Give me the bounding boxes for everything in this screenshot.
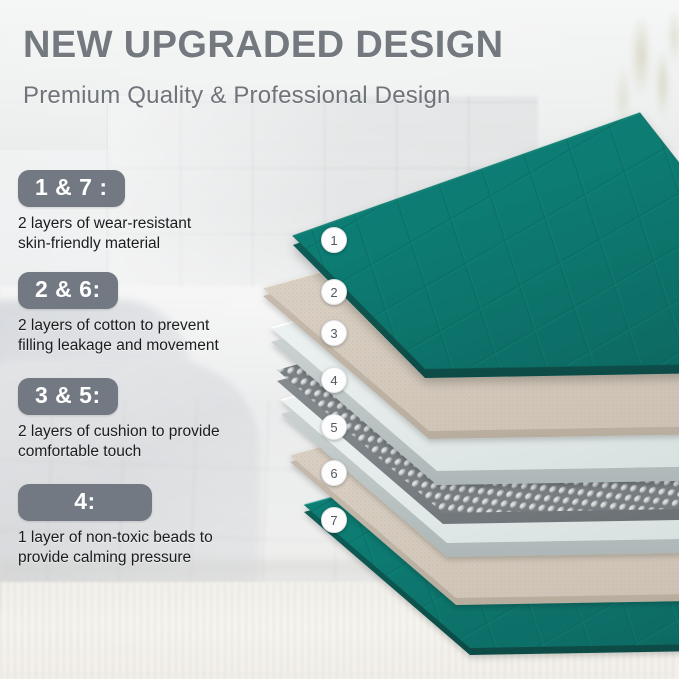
layer-badge-2-number: 2 bbox=[330, 285, 337, 300]
callout-4-description: 1 layer of non-toxic beads to provide ca… bbox=[18, 528, 213, 568]
callout-3-label: 3 & 5: bbox=[18, 378, 118, 415]
layer-badge-5: 5 bbox=[321, 414, 347, 440]
layer-badge-1-number: 1 bbox=[330, 233, 337, 248]
layer-badge-7-number: 7 bbox=[330, 513, 337, 528]
callout-2-label: 2 & 6: bbox=[18, 272, 118, 309]
callout-4: 4: 1 layer of non-toxic beads to provide… bbox=[18, 484, 213, 568]
callout-3-description: 2 layers of cushion to provide comfortab… bbox=[18, 422, 220, 462]
layer-badge-6: 6 bbox=[321, 460, 347, 486]
layer-badge-3: 3 bbox=[321, 320, 347, 346]
layer-badge-4-number: 4 bbox=[330, 373, 337, 388]
callout-2-description: 2 layers of cotton to prevent filling le… bbox=[18, 316, 219, 356]
layer-badge-3-number: 3 bbox=[330, 326, 337, 341]
page-title: NEW UPGRADED DESIGN bbox=[23, 24, 504, 67]
layer-badge-6-number: 6 bbox=[330, 466, 337, 481]
callout-2: 2 & 6: 2 layers of cotton to prevent fil… bbox=[18, 272, 219, 356]
callout-1-description: 2 layers of wear-resistant skin-friendly… bbox=[18, 214, 191, 254]
layer-badge-7: 7 bbox=[321, 507, 347, 533]
page-subtitle: Premium Quality & Professional Design bbox=[23, 82, 451, 110]
layer-badge-4: 4 bbox=[321, 367, 347, 393]
callout-1: 1 & 7 : 2 layers of wear-resistant skin-… bbox=[18, 170, 191, 254]
callout-4-label: 4: bbox=[18, 484, 152, 521]
callout-1-label: 1 & 7 : bbox=[18, 170, 125, 207]
layer-badge-2: 2 bbox=[321, 279, 347, 305]
layer-badge-1: 1 bbox=[321, 227, 347, 253]
callout-3: 3 & 5: 2 layers of cushion to provide co… bbox=[18, 378, 220, 462]
layer-badge-5-number: 5 bbox=[330, 420, 337, 435]
infographic-canvas: 1 2 3 4 5 6 7 NEW UPGRADED DESIGN Premiu… bbox=[0, 0, 679, 679]
